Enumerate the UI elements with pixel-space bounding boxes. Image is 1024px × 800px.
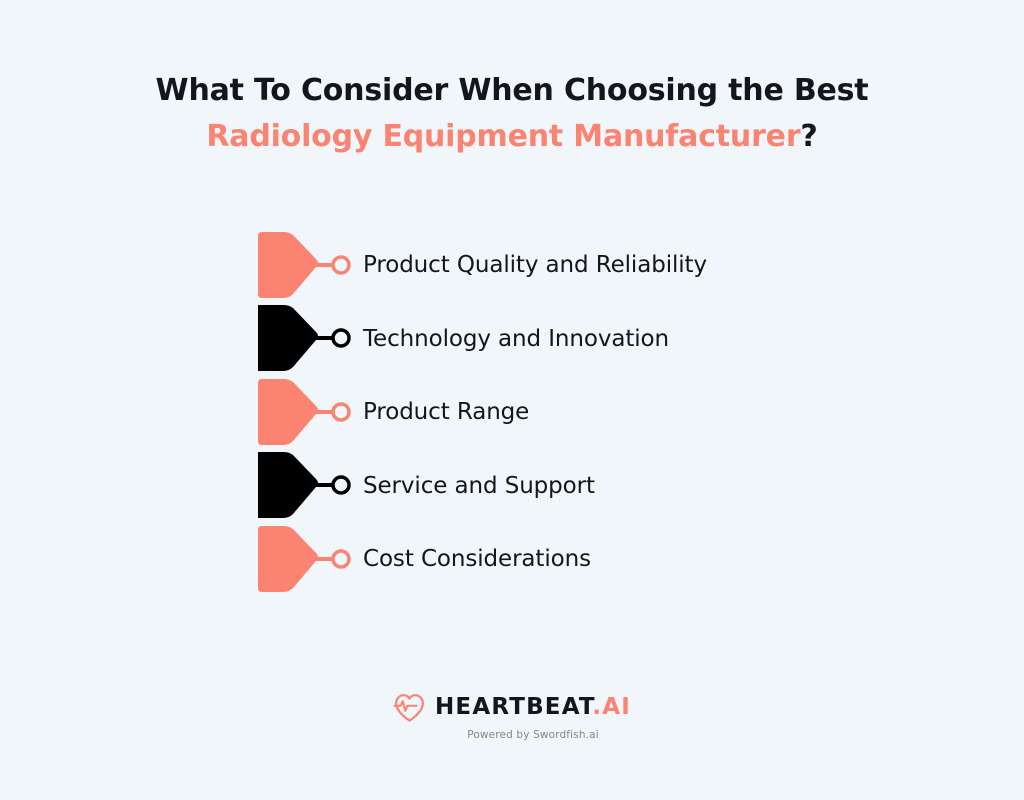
- pentagon-pin-icon: [258, 232, 353, 300]
- brand-suffix: .AI: [592, 694, 631, 720]
- list-item-label: Cost Considerations: [363, 548, 591, 571]
- list-item-label: Service and Support: [363, 475, 595, 498]
- consideration-list: Product Quality and Reliability Technolo…: [0, 229, 1024, 597]
- footer-logo: HEARTBEAT.AI Powered by Swordfish.ai: [0, 692, 1024, 741]
- title-highlight-text: Radiology Equipment Manufacturer: [206, 119, 800, 154]
- brand-wordmark: HEARTBEAT.AI: [435, 696, 631, 719]
- list-item[interactable]: Product Quality and Reliability: [258, 229, 707, 303]
- ring-connector-icon: [333, 551, 349, 567]
- title-line-2: Radiology Equipment Manufacturer?: [0, 118, 1024, 156]
- title-question-mark: ?: [800, 119, 817, 154]
- logo-row: HEARTBEAT.AI: [393, 692, 631, 723]
- list-item[interactable]: Technology and Innovation: [258, 302, 669, 376]
- brand-name: HEARTBEAT: [435, 694, 592, 720]
- list-item-label: Product Range: [363, 401, 529, 424]
- list-item[interactable]: Cost Considerations: [258, 523, 591, 597]
- ring-connector-icon: [333, 477, 349, 493]
- pentagon-pin-icon: [258, 379, 353, 447]
- ring-connector-icon: [333, 404, 349, 420]
- ring-connector-icon: [333, 257, 349, 273]
- list-item-label: Product Quality and Reliability: [363, 254, 707, 277]
- ring-connector-icon: [333, 330, 349, 346]
- pentagon-pin-icon: [258, 452, 353, 520]
- list-item[interactable]: Product Range: [258, 376, 529, 450]
- title-line-1: What To Consider When Choosing the Best: [0, 72, 1024, 110]
- powered-by-tagline: Powered by Swordfish.ai: [467, 730, 599, 741]
- list-item[interactable]: Service and Support: [258, 449, 595, 523]
- page-title: What To Consider When Choosing the Best …: [0, 72, 1024, 157]
- infographic-page: What To Consider When Choosing the Best …: [0, 0, 1024, 800]
- heartbeat-pulse-icon: [393, 692, 426, 723]
- pentagon-pin-icon: [258, 526, 353, 594]
- list-item-label: Technology and Innovation: [363, 328, 669, 351]
- pentagon-pin-icon: [258, 305, 353, 373]
